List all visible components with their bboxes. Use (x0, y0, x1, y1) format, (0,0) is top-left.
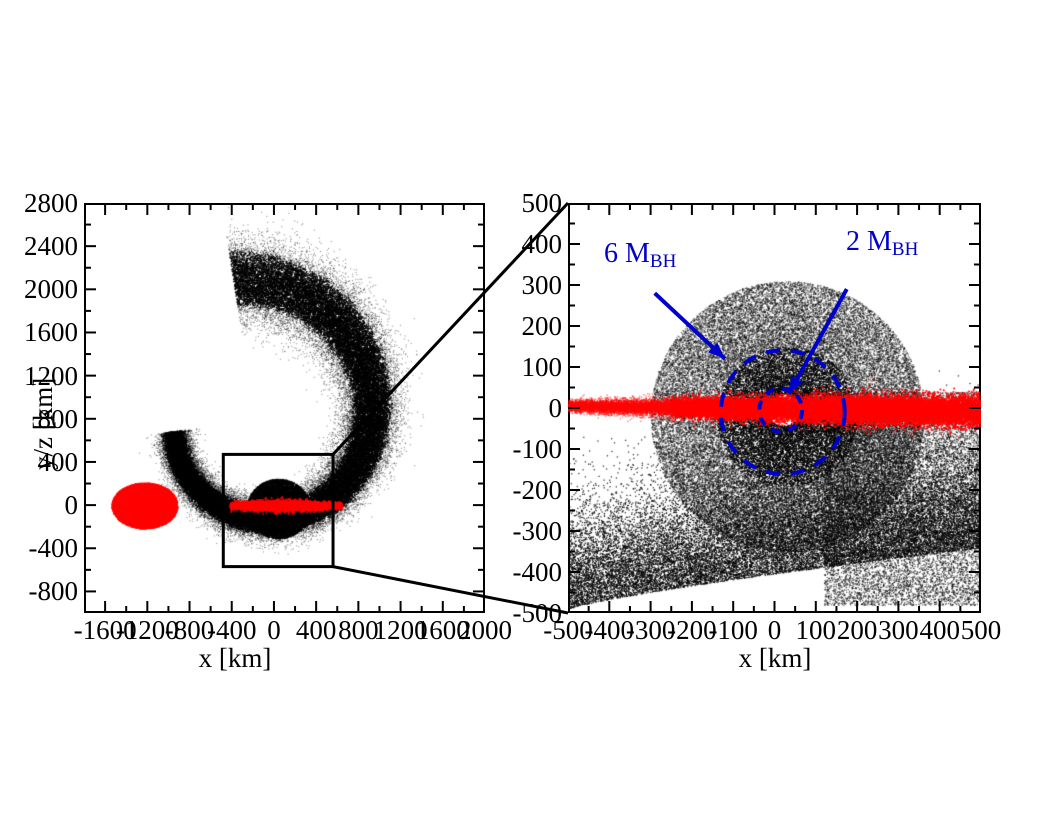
left-panel-xtick-5: 400 (296, 617, 337, 644)
right-panel-xtick-4: -100 (708, 617, 758, 644)
left-panel (84, 203, 485, 613)
right-panel-xtick-6: 100 (796, 617, 837, 644)
left-panel-xtick-6: 800 (338, 617, 379, 644)
right-panel-xtick-9: 400 (919, 617, 960, 644)
right-panel-xtick-7: 200 (837, 617, 878, 644)
left-panel-ytick-7: 2000 (24, 276, 78, 303)
annotation-2mbh-label: 2 MBH (846, 228, 918, 256)
right-panel-ytick-3: -200 (513, 477, 563, 504)
right-panel-xtick-8: 300 (878, 617, 919, 644)
right-panel-x-axis-title: x [km] (739, 645, 812, 672)
left-panel-ytick-0: -800 (29, 578, 79, 605)
left-panel-ytick-8: 2400 (24, 233, 78, 260)
right-panel-xtick-10: 500 (961, 617, 1002, 644)
annotation-6mbh-sub: BH (650, 251, 676, 272)
right-panel-ytick-10: 500 (522, 190, 563, 217)
figure-root: 6 MBH 2 MBH -1600-1200-800-4000400800120… (0, 0, 1057, 817)
right-panel-ytick-5: 0 (549, 395, 563, 422)
right-panel-ytick-1: -400 (513, 559, 563, 586)
annotation-6mbh-main: 6 M (604, 238, 650, 269)
annotation-2mbh-sub: BH (892, 239, 918, 260)
annotation-6mbh-label: 6 MBH (604, 240, 676, 268)
left-panel-ytick-6: 1600 (24, 319, 78, 346)
annotation-2mbh-main: 2 M (846, 226, 892, 257)
left-panel-y-axis-title: y/z [km] (30, 378, 57, 470)
right-panel-ytick-4: -100 (513, 436, 563, 463)
right-panel-ytick-2: -300 (513, 518, 563, 545)
right-panel-ytick-0: -500 (513, 600, 563, 627)
left-panel-x-axis-title: x [km] (199, 645, 272, 672)
left-panel-scatter-canvas (84, 203, 485, 613)
left-panel-xtick-4: 0 (267, 617, 281, 644)
left-panel-ytick-2: 0 (65, 492, 79, 519)
right-panel-ytick-8: 300 (522, 272, 563, 299)
right-panel-ytick-6: 100 (522, 354, 563, 381)
right-panel-ytick-9: 400 (522, 231, 563, 258)
left-panel-xtick-9: 2000 (458, 617, 512, 644)
left-panel-xtick-3: -400 (207, 617, 257, 644)
right-panel-xtick-5: 0 (768, 617, 782, 644)
left-panel-ytick-9: 2800 (24, 190, 78, 217)
left-panel-ytick-1: -400 (29, 535, 79, 562)
right-panel-ytick-7: 200 (522, 313, 563, 340)
